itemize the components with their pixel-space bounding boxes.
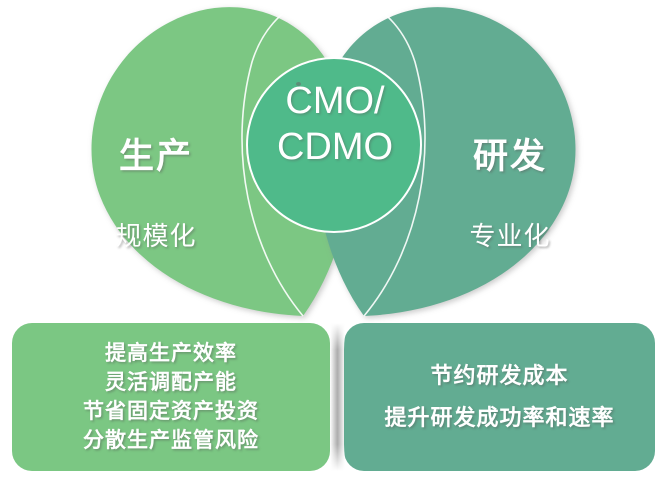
summary-box-left-line-1: 提高生产效率 [105, 339, 237, 368]
center-circle-label: CMO/ CDMO [248, 78, 422, 170]
box-gap-shadow [330, 323, 345, 471]
flower-diagram: CMO/ CDMO 生产 规模化 研发 专业化 [0, 0, 667, 330]
petal-right-title: 研发 [440, 128, 580, 179]
summary-box-left-line-2: 灵活调配产能 [105, 368, 237, 397]
petal-left-title: 生产 [86, 128, 226, 179]
center-label-line-2: CDMO [248, 124, 422, 170]
summary-box-right-line-1: 节约研发成本 [430, 355, 568, 397]
summary-box-left-line-4: 分散生产监管风险 [83, 426, 259, 455]
summary-box-right[interactable]: 节约研发成本 提升研发成功率和速率 [344, 323, 655, 471]
petal-left-subtitle: 规模化 [86, 216, 226, 253]
petal-right-subtitle: 专业化 [440, 216, 580, 253]
summary-box-left-line-3: 节省固定资产投资 [83, 397, 259, 426]
summary-box-right-line-2: 提升研发成功率和速率 [384, 397, 614, 439]
summary-box-left[interactable]: 提高生产效率 灵活调配产能 节省固定资产投资 分散生产监管风险 [12, 323, 330, 471]
diagram-canvas: CMO/ CDMO 生产 规模化 研发 专业化 提高生产效率 灵活调配产能 节省… [0, 0, 667, 482]
center-label-line-1: CMO/ [248, 78, 422, 124]
